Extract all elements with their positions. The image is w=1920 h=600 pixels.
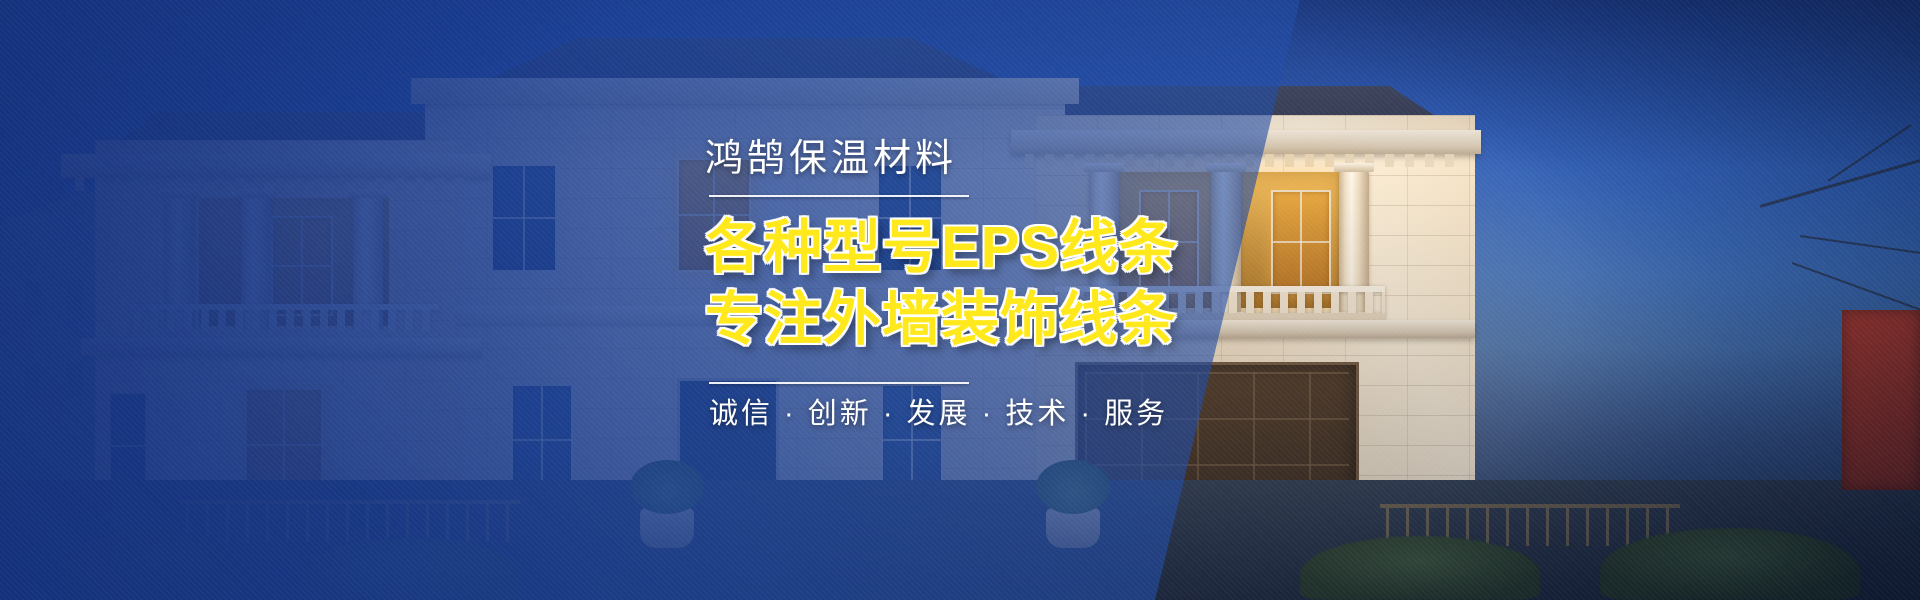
left-wing-string-course — [81, 338, 481, 356]
promotional-banner: 鸿鹄保温材料 各种型号EPS线条 专注外墙装饰线条 诚信 · 创新 · 发展 ·… — [0, 0, 1920, 600]
headline-line-1: 各种型号EPS线条 — [705, 212, 1178, 284]
distant-window — [24, 364, 42, 400]
balustrade — [129, 304, 439, 338]
distant-window — [66, 362, 84, 398]
distant-window — [24, 280, 42, 316]
left-wing-cornice — [61, 154, 491, 178]
potted-plant — [640, 508, 694, 548]
red-object — [1842, 310, 1920, 490]
tagline: 诚信 · 创新 · 发展 · 技术 · 服务 — [709, 400, 1168, 429]
divider-bottom — [709, 382, 969, 384]
headline-line-2: 专注外墙装饰线条 — [705, 284, 1178, 356]
banner-content: 鸿鹄保温材料 各种型号EPS线条 专注外墙装饰线条 诚信 · 创新 · 发展 ·… — [705, 0, 1325, 600]
window — [491, 164, 557, 272]
brand-name: 鸿鹄保温材料 — [705, 140, 957, 178]
divider-top — [709, 195, 969, 197]
distant-window — [66, 276, 84, 312]
headline: 各种型号EPS线条 专注外墙装饰线条 — [705, 212, 1178, 356]
window-lit — [271, 216, 333, 316]
iron-railing — [180, 500, 520, 542]
